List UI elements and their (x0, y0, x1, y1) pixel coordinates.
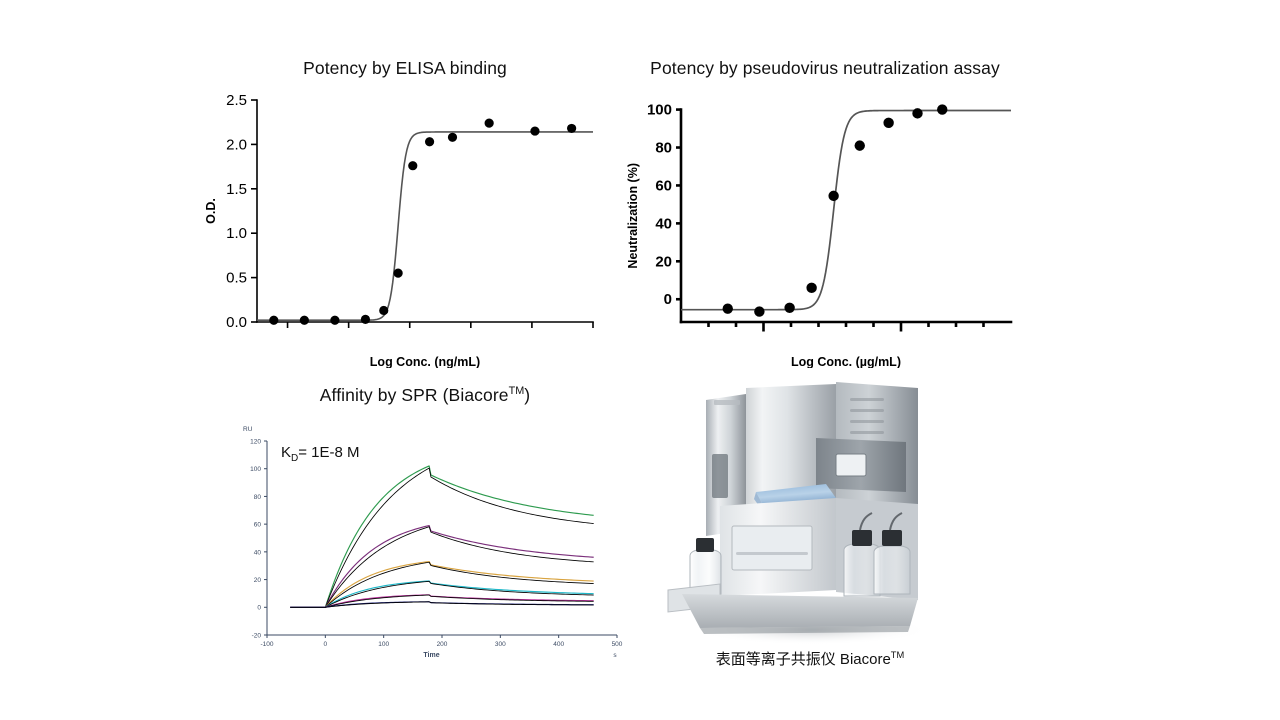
pseudovirus-chart-svg: 020406080100Log Conc. (µg/mL)Neutralizat… (615, 90, 1035, 368)
data-point (408, 161, 417, 170)
y-tick-label: 60 (655, 177, 672, 194)
spr-x-tick-label: 200 (437, 641, 448, 648)
spr-x-tick-label: -100 (260, 641, 273, 648)
y-tick-label: 80 (655, 140, 672, 157)
panel-elisa-binding: Potency by ELISA binding 0.00.51.01.52.0… (195, 58, 615, 368)
data-point (754, 306, 764, 316)
spr-panel-title: Affinity by SPR (BiacoreTM) (215, 385, 635, 406)
data-point (361, 315, 370, 324)
x-axis-label: Log Conc. (ng/mL) (370, 355, 480, 368)
spr-title-trademark: TM (509, 385, 525, 397)
data-point (855, 140, 865, 150)
data-point (485, 118, 494, 127)
elisa-chart-svg: 0.00.51.01.52.02.5Log Conc. (ng/mL)O.D. (195, 90, 615, 368)
data-point (567, 124, 576, 133)
data-point (330, 316, 339, 325)
elisa-plot-area: 0.00.51.01.52.02.5Log Conc. (ng/mL)O.D. (195, 90, 615, 373)
kd-k: K (281, 444, 291, 461)
y-tick-label: 0.0 (226, 314, 247, 331)
panel-spr-affinity: Affinity by SPR (BiacoreTM) RU-200204060… (215, 385, 635, 675)
data-point (883, 118, 893, 128)
spr-y-tick-label: 0 (257, 605, 261, 612)
spr-y-tick-label: 100 (250, 466, 261, 473)
spr-y-tick-label: -20 (252, 632, 262, 639)
data-point (269, 316, 278, 325)
y-tick-label: 2.0 (226, 136, 247, 153)
spr-plot-area: RU-20020406080100120-1000100200300400500… (215, 417, 635, 680)
y-tick-label: 40 (655, 215, 672, 232)
data-point (300, 316, 309, 325)
y-tick-label: 20 (655, 253, 672, 270)
data-point (448, 133, 457, 142)
spr-kd-annotation: KD= 1E-8 M (281, 444, 360, 464)
y-axis-label: O.D. (204, 198, 218, 224)
spr-y-tick-label: 60 (254, 522, 262, 529)
spr-x-tick-label: 300 (495, 641, 506, 648)
data-point (425, 137, 434, 146)
spr-x-tick-label: 0 (324, 641, 328, 648)
data-point (912, 108, 922, 118)
data-point-group (723, 104, 948, 316)
y-axis-label: Neutralization (%) (626, 163, 640, 269)
spr-y-tick-label: 20 (254, 577, 262, 584)
data-point (806, 283, 816, 293)
spr-x-axis-label: Time (423, 652, 439, 659)
y-tick-label: 0 (664, 291, 672, 308)
spr-x-tick-label: 400 (553, 641, 564, 648)
data-point (784, 303, 794, 313)
panel-instrument-photo: 表面等离子共振仪 BiacoreTM (660, 380, 960, 680)
pseudovirus-panel-title: Potency by pseudovirus neutralization as… (615, 58, 1035, 79)
spr-y-tick-label: 120 (250, 438, 261, 445)
kd-subscript-d: D (291, 453, 298, 464)
x-axis-label: Log Conc. (µg/mL) (791, 355, 901, 368)
instrument-caption-main: 表面等离子共振仪 Biacore (716, 651, 891, 668)
data-point (723, 304, 733, 314)
pseudovirus-plot-area: 020406080100Log Conc. (µg/mL)Neutralizat… (615, 90, 1035, 373)
fitted-curve (681, 111, 1011, 310)
y-tick-label: 0.5 (226, 270, 247, 287)
data-point (530, 126, 539, 135)
data-point (379, 306, 388, 315)
spr-y-tick-label: 40 (254, 549, 262, 556)
spr-x-tick-label: 500 (612, 641, 623, 648)
spr-title-tail: ) (524, 385, 530, 405)
slide-root: Potency by ELISA binding 0.00.51.01.52.0… (0, 0, 1280, 720)
spr-fitted-trace (290, 468, 593, 607)
biacore-instrument-svg (660, 380, 960, 650)
biacore-instrument-image (660, 380, 960, 650)
fitted-curve (257, 132, 593, 320)
spr-y-tick-label: 80 (254, 494, 262, 501)
spr-x-unit-label: s (613, 652, 617, 659)
data-point (937, 104, 947, 114)
instrument-caption: 表面等离子共振仪 BiacoreTM (660, 648, 960, 669)
spr-x-tick-label: 100 (378, 641, 389, 648)
panel-pseudovirus-neutralization: Potency by pseudovirus neutralization as… (615, 58, 1035, 368)
data-point-group (269, 118, 576, 324)
spr-chart-svg: RU-20020406080100120-1000100200300400500… (215, 417, 635, 675)
elisa-panel-title: Potency by ELISA binding (195, 58, 615, 79)
data-point (828, 191, 838, 201)
y-tick-label: 2.5 (226, 92, 247, 109)
spr-y-unit-label: RU (243, 426, 253, 433)
spr-title-main: Affinity by SPR (Biacore (320, 385, 509, 405)
instrument-caption-trademark: TM (891, 650, 904, 660)
y-tick-label: 100 (647, 102, 672, 119)
y-tick-label: 1.0 (226, 225, 247, 242)
data-point (394, 269, 403, 278)
kd-value: = 1E-8 M (298, 444, 359, 461)
y-tick-label: 1.5 (226, 181, 247, 198)
